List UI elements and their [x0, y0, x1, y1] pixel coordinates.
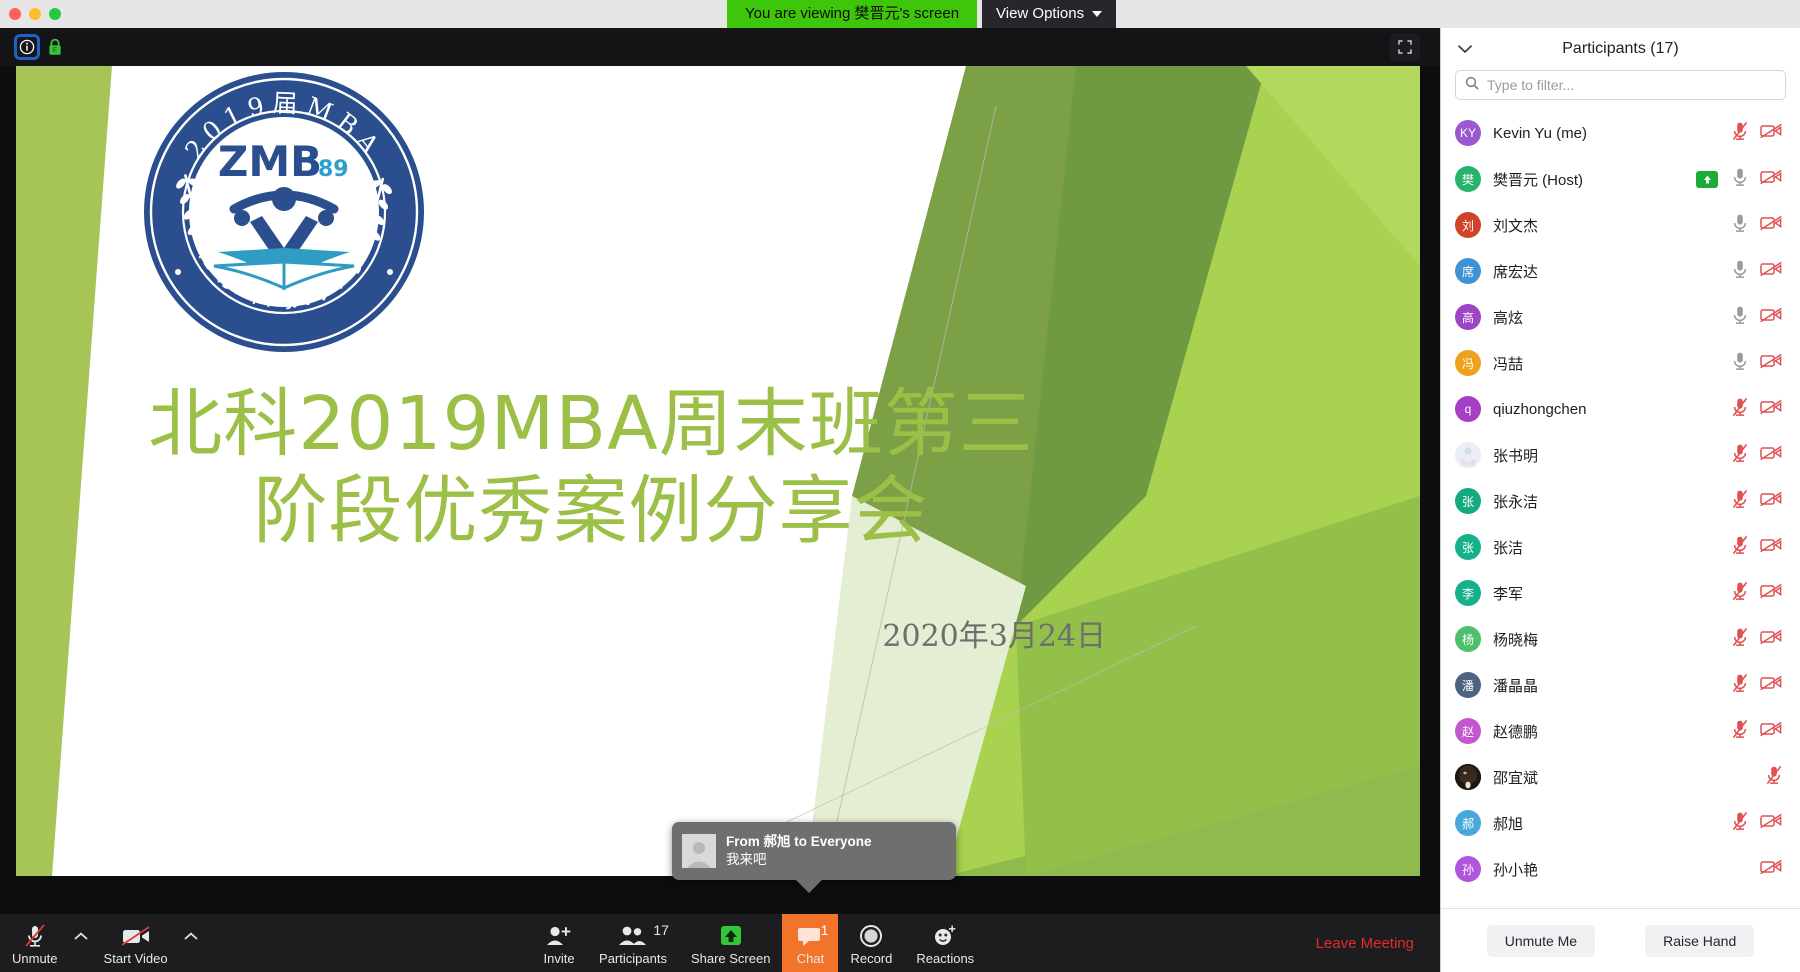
- raise-hand-button[interactable]: Raise Hand: [1645, 925, 1754, 957]
- svg-text:E: E: [53, 47, 58, 54]
- share-screen-button[interactable]: Share Screen: [679, 914, 783, 972]
- mic-muted-icon[interactable]: [1732, 719, 1748, 744]
- info-icon[interactable]: [14, 34, 40, 60]
- chat-toast-sender: From 郝旭 to Everyone: [726, 833, 872, 851]
- participant-status-icons: [1732, 443, 1782, 468]
- university-logo: 2019届MBA 北京科技大学: [138, 66, 430, 358]
- video-off-icon[interactable]: [1760, 123, 1782, 144]
- participant-row[interactable]: 张书明: [1441, 432, 1800, 478]
- participants-panel-header: Participants (17): [1441, 28, 1800, 70]
- mic-muted-icon[interactable]: [1732, 811, 1748, 836]
- participant-status-icons: [1732, 213, 1782, 238]
- video-off-icon[interactable]: [1760, 675, 1782, 696]
- participant-row[interactable]: 潘潘晶晶: [1441, 662, 1800, 708]
- participant-row[interactable]: 席席宏达: [1441, 248, 1800, 294]
- mic-muted-icon[interactable]: [1732, 673, 1748, 698]
- mic-on-icon[interactable]: [1732, 213, 1748, 238]
- participant-status-icons: [1760, 859, 1782, 880]
- unmute-button[interactable]: Unmute: [0, 914, 70, 972]
- video-off-icon[interactable]: [1760, 583, 1782, 604]
- participant-name: 孙小艳: [1493, 859, 1748, 880]
- avatar: 冯: [1455, 350, 1481, 376]
- encryption-lock-icon[interactable]: E: [48, 38, 62, 61]
- participant-name: 张书明: [1493, 445, 1720, 466]
- chat-toast-pointer: [795, 879, 823, 893]
- participant-status-icons: [1696, 167, 1782, 192]
- record-circle-icon: [859, 923, 883, 949]
- chevron-down-icon[interactable]: [1457, 41, 1473, 59]
- video-off-icon: [121, 923, 151, 949]
- traffic-lights: [9, 8, 61, 20]
- person-add-icon: [545, 923, 573, 949]
- avatar: q: [1455, 396, 1481, 422]
- participant-row[interactable]: 郝郝旭: [1441, 800, 1800, 846]
- mic-muted-icon[interactable]: [1732, 627, 1748, 652]
- unmute-me-button[interactable]: Unmute Me: [1487, 925, 1595, 957]
- video-off-icon[interactable]: [1760, 859, 1782, 880]
- leave-meeting-button[interactable]: Leave Meeting: [1316, 935, 1440, 952]
- share-screen-label: Share Screen: [691, 951, 771, 966]
- participant-status-icons: [1732, 121, 1782, 146]
- avatar: 李: [1455, 580, 1481, 606]
- participant-name: 郝旭: [1493, 813, 1720, 834]
- share-up-arrow-icon: [716, 923, 746, 949]
- video-off-icon[interactable]: [1760, 399, 1782, 420]
- participants-panel-footer: Unmute Me Raise Hand: [1441, 908, 1800, 972]
- record-button[interactable]: Record: [838, 914, 904, 972]
- participant-row[interactable]: 杨杨晓梅: [1441, 616, 1800, 662]
- avatar: 席: [1455, 258, 1481, 284]
- svg-text:ZMB: ZMB: [218, 137, 322, 186]
- participants-panel: Participants (17) KYKevin Yu (me) 樊樊晋元 (…: [1440, 28, 1800, 972]
- chat-toast-message: 我来吧: [726, 851, 872, 869]
- mic-on-icon[interactable]: [1732, 167, 1748, 192]
- avatar: 赵: [1455, 718, 1481, 744]
- toolbar-left-spacer: [202, 914, 531, 972]
- video-off-icon[interactable]: [1760, 445, 1782, 466]
- participant-row[interactable]: 邵宜斌: [1441, 754, 1800, 800]
- participant-status-icons: [1732, 535, 1782, 560]
- participant-row[interactable]: 冯冯喆: [1441, 340, 1800, 386]
- participant-name: qiuzhongchen: [1493, 401, 1720, 418]
- audio-options-caret[interactable]: [70, 914, 92, 972]
- chat-button[interactable]: 1 Chat: [782, 914, 838, 972]
- zoom-meeting-window: You are viewing 樊晋元's screen View Option…: [0, 0, 1800, 972]
- participants-filter-row: [1441, 70, 1800, 110]
- viewing-screen-banner: You are viewing 樊晋元's screen: [727, 0, 977, 28]
- participants-button[interactable]: 17 Participants: [587, 914, 679, 972]
- avatar: 张: [1455, 534, 1481, 560]
- participant-row[interactable]: 刘刘文杰: [1441, 202, 1800, 248]
- view-options-button[interactable]: View Options: [982, 0, 1116, 28]
- participant-status-icons: [1732, 811, 1782, 836]
- mic-on-icon[interactable]: [1732, 259, 1748, 284]
- participant-name: 潘晶晶: [1493, 675, 1720, 696]
- start-video-label: Start Video: [104, 951, 168, 966]
- participant-name: 席宏达: [1493, 261, 1720, 282]
- participants-list[interactable]: KYKevin Yu (me) 樊樊晋元 (Host) 刘刘文杰 席席宏达 高高…: [1441, 110, 1800, 908]
- video-options-caret[interactable]: [180, 914, 202, 972]
- participant-status-icons: [1732, 351, 1782, 376]
- record-label: Record: [850, 951, 892, 966]
- participant-status-icons: [1766, 765, 1782, 790]
- avatar: 潘: [1455, 672, 1481, 698]
- invite-label: Invite: [543, 951, 574, 966]
- avatar: 郝: [1455, 810, 1481, 836]
- participant-name: 杨晓梅: [1493, 629, 1720, 650]
- avatar: KY: [1455, 120, 1481, 146]
- participant-row[interactable]: KYKevin Yu (me): [1441, 110, 1800, 156]
- video-off-icon[interactable]: [1760, 721, 1782, 742]
- chevron-down-icon: [1092, 11, 1102, 17]
- view-options-label: View Options: [996, 0, 1084, 28]
- participant-name: Kevin Yu (me): [1493, 125, 1720, 142]
- mic-muted-icon[interactable]: [1732, 535, 1748, 560]
- smiley-plus-icon: [932, 923, 958, 949]
- avatar: 高: [1455, 304, 1481, 330]
- participant-row[interactable]: 张张永洁: [1441, 478, 1800, 524]
- participant-name: 邵宜斌: [1493, 767, 1754, 788]
- slide-date: 2020年3月24日: [716, 611, 1106, 655]
- participant-name: 赵德鹏: [1493, 721, 1720, 742]
- reactions-button[interactable]: Reactions: [904, 914, 986, 972]
- svg-text:89: 89: [318, 157, 349, 182]
- reactions-label: Reactions: [916, 951, 974, 966]
- meeting-toolbar: Unmute Start Video: [0, 914, 1440, 972]
- avatar: 杨: [1455, 626, 1481, 652]
- participants-panel-title: Participants (17): [1562, 40, 1679, 58]
- chat-notification-toast[interactable]: From 郝旭 to Everyone 我来吧: [672, 822, 956, 880]
- invite-button[interactable]: Invite: [531, 914, 587, 972]
- search-icon: [1465, 76, 1479, 95]
- participant-name: 刘文杰: [1493, 215, 1720, 236]
- participant-status-icons: [1732, 627, 1782, 652]
- participant-row[interactable]: 张张洁: [1441, 524, 1800, 570]
- search-input[interactable]: [1487, 77, 1776, 93]
- slide-title-line2: 阶段优秀案例分享会: [76, 468, 1106, 555]
- unmute-label: Unmute: [12, 951, 58, 966]
- person-placeholder-icon: [682, 834, 716, 868]
- participant-status-icons: [1732, 581, 1782, 606]
- mic-muted-icon[interactable]: [1732, 443, 1748, 468]
- mic-muted-icon[interactable]: [1732, 121, 1748, 146]
- avatar: 孙: [1455, 856, 1481, 882]
- video-off-icon[interactable]: [1760, 537, 1782, 558]
- participant-status-icons: [1732, 305, 1782, 330]
- avatar: 张: [1455, 488, 1481, 514]
- participant-name: 冯喆: [1493, 353, 1720, 374]
- avatar: [1455, 764, 1481, 790]
- participant-name: 张永洁: [1493, 491, 1720, 512]
- video-off-icon[interactable]: [1760, 169, 1782, 190]
- meeting-top-chrome: E: [0, 28, 1440, 66]
- mic-muted-icon[interactable]: [1732, 397, 1748, 422]
- participant-row[interactable]: 李李军: [1441, 570, 1800, 616]
- avatar: 刘: [1455, 212, 1481, 238]
- participant-name: 李军: [1493, 583, 1720, 604]
- participant-status-icons: [1732, 397, 1782, 422]
- chat-unread-count: 1: [821, 923, 829, 937]
- video-off-icon[interactable]: [1760, 353, 1782, 374]
- video-off-icon[interactable]: [1760, 261, 1782, 282]
- participant-name: 樊晋元 (Host): [1493, 169, 1684, 190]
- chat-bubble-icon: [797, 923, 823, 949]
- avatar: [1455, 442, 1481, 468]
- toolbar-right-spacer: [986, 914, 1315, 972]
- participant-row[interactable]: qqiuzhongchen: [1441, 386, 1800, 432]
- video-off-icon[interactable]: [1760, 491, 1782, 512]
- mic-muted-icon[interactable]: [1732, 489, 1748, 514]
- participant-status-icons: [1732, 673, 1782, 698]
- chat-label: Chat: [797, 951, 824, 966]
- mic-on-icon[interactable]: [1732, 351, 1748, 376]
- participant-row[interactable]: 赵赵德鹏: [1441, 708, 1800, 754]
- participants-count: 17: [653, 923, 669, 937]
- video-off-icon[interactable]: [1760, 813, 1782, 834]
- fullscreen-icon[interactable]: [1390, 33, 1420, 61]
- video-off-icon[interactable]: [1760, 307, 1782, 328]
- minimize-button[interactable]: [29, 8, 41, 20]
- participant-status-icons: [1732, 489, 1782, 514]
- participants-label: Participants: [599, 951, 667, 966]
- slide-title: 北科2019MBA周末班第三 阶段优秀案例分享会: [76, 381, 1106, 556]
- start-video-button[interactable]: Start Video: [92, 914, 180, 972]
- video-off-icon[interactable]: [1760, 629, 1782, 650]
- participant-row[interactable]: 孙孙小艳: [1441, 846, 1800, 892]
- avatar: 樊: [1455, 166, 1481, 192]
- participant-status-icons: [1732, 259, 1782, 284]
- filter-box[interactable]: [1455, 70, 1786, 100]
- mic-muted-icon[interactable]: [1732, 581, 1748, 606]
- participant-status-icons: [1732, 719, 1782, 744]
- screen-share-badge-icon: [1696, 171, 1718, 188]
- shared-screen-content: 2019届MBA 北京科技大学: [16, 66, 1420, 876]
- participant-row[interactable]: 樊樊晋元 (Host): [1441, 156, 1800, 202]
- slide-title-line1: 北科2019MBA周末班第三: [148, 381, 1034, 467]
- participant-name: 高炫: [1493, 307, 1720, 328]
- mic-muted-icon: [22, 923, 48, 949]
- video-off-icon[interactable]: [1760, 215, 1782, 236]
- participant-name: 张洁: [1493, 537, 1720, 558]
- people-icon: [618, 923, 648, 949]
- mic-muted-icon[interactable]: [1766, 765, 1782, 790]
- participant-row[interactable]: 高高炫: [1441, 294, 1800, 340]
- zoom-button[interactable]: [49, 8, 61, 20]
- mic-on-icon[interactable]: [1732, 305, 1748, 330]
- close-button[interactable]: [9, 8, 21, 20]
